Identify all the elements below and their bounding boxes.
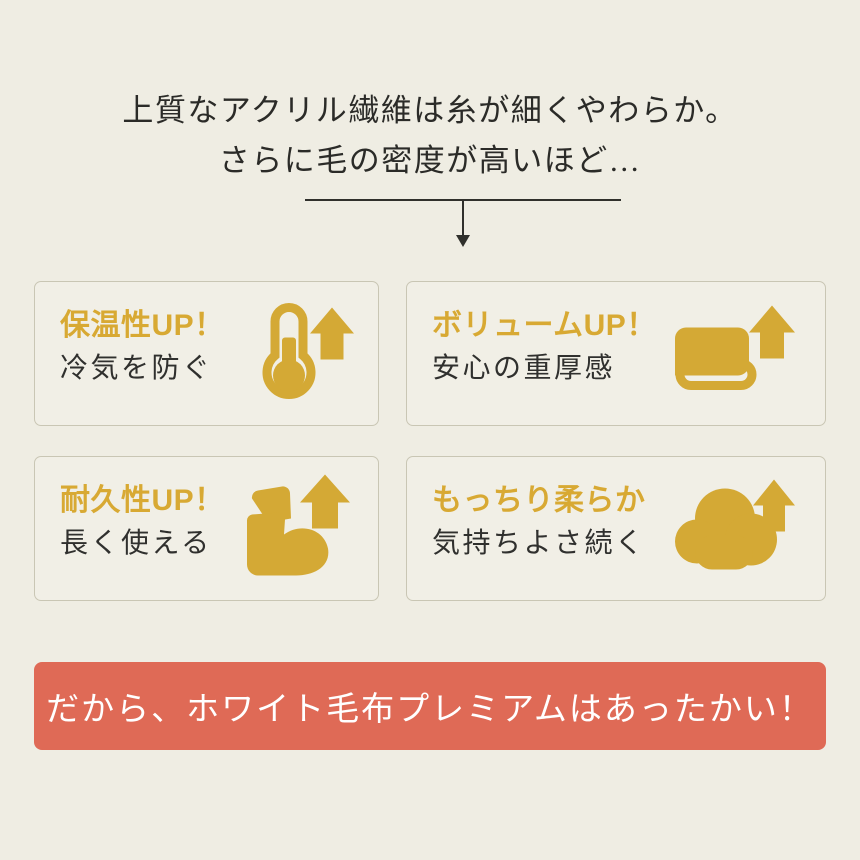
feature-card-subtitle: 気持ちよさ続く [432,521,646,565]
feature-card-subtitle: 冷気を防ぐ [60,346,225,390]
feature-card-text: 耐久性UP！ 長く使える [60,481,225,565]
feature-card-text: ボリュームUP！ 安心の重厚感 [432,306,657,390]
feature-card-title: 耐久性UP！ [60,481,225,521]
feature-card-subtitle: 長く使える [60,521,225,565]
up-arrow-icon [300,474,350,528]
connector-vertical-bar [462,199,464,237]
thermometer-icon [244,299,354,403]
cloud-icon [673,473,797,579]
feature-card-durability: 耐久性UP！ 長く使える [34,456,379,601]
down-arrow-icon [456,235,470,247]
feature-card-text: 保温性UP！ 冷気を防ぐ [60,306,225,390]
headline-line-2: さらに毛の密度が高いほど… [0,136,860,186]
feature-card-icon-group [671,301,797,406]
feature-card-title: ボリュームUP！ [432,306,657,346]
up-arrow-icon [749,305,795,358]
feature-card-icon-group [673,473,797,584]
feature-card-softness: もっちり柔らか 気持ちよさ続く [406,456,826,601]
feature-card-subtitle: 安心の重厚感 [432,346,657,390]
feature-card-icon-group [244,299,354,408]
feature-card-text: もっちり柔らか 気持ちよさ続く [432,481,646,565]
headline: 上質なアクリル繊維は糸が細くやわらか。 さらに毛の密度が高いほど… [0,86,860,186]
feature-card-volume: ボリュームUP！ 安心の重厚感 [406,281,826,426]
headline-line-1: 上質なアクリル繊維は糸が細くやわらか。 [0,86,860,136]
folded-blanket-icon [671,301,797,401]
feature-card-insulation: 保温性UP！ 冷気を防ぐ [34,281,379,426]
up-arrow-icon [310,307,354,359]
connector-arrow [305,199,621,249]
flexed-bicep-icon [238,472,354,580]
feature-card-title: もっちり柔らか [432,481,646,521]
infographic-page: 上質なアクリル繊維は糸が細くやわらか。 さらに毛の密度が高いほど… 保温性UP！… [0,0,860,860]
conclusion-banner-text: だから、ホワイト毛布プレミアムはあったかい！ [46,682,814,730]
conclusion-banner: だから、ホワイト毛布プレミアムはあったかい！ [34,662,826,750]
feature-card-icon-group [238,472,354,585]
feature-card-title: 保温性UP！ [60,306,225,346]
